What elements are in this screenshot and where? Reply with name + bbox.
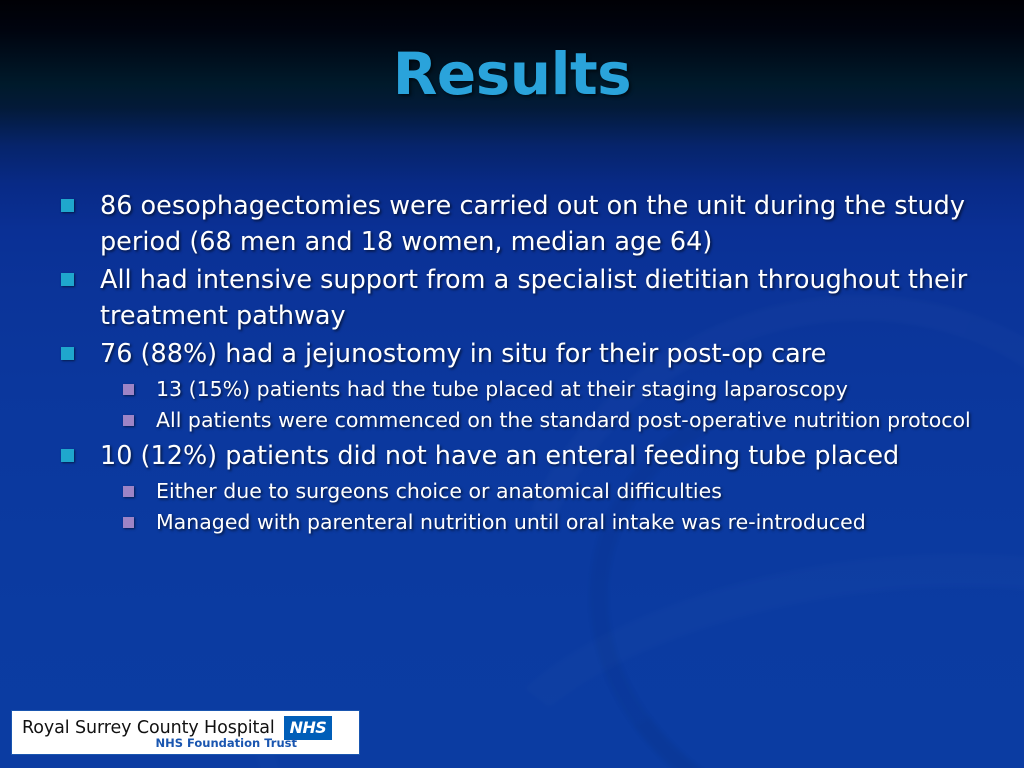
sub-bullet-square-icon	[123, 517, 134, 528]
bullet-text: 86 oesophagectomies were carried out on …	[100, 191, 965, 257]
trust-name-text: Royal Surrey County Hospital	[22, 718, 275, 738]
slide-body: 86 oesophagectomies were carried out on …	[56, 188, 986, 540]
nhs-trust-logo: Royal Surrey County Hospital NHS NHS Fou…	[11, 710, 360, 755]
bullet-list-level1: 86 oesophagectomies were carried out on …	[56, 188, 986, 538]
slide: Results 86 oesophagectomies were carried…	[0, 0, 1024, 768]
bullet-list-level2: Either due to surgeons choice or anatomi…	[114, 476, 986, 538]
bullet-text: 10 (12%) patients did not have an entera…	[100, 441, 899, 471]
bullet-item: 10 (12%) patients did not have an entera…	[56, 438, 986, 538]
sub-bullet-square-icon	[123, 486, 134, 497]
sub-bullet-text: Either due to surgeons choice or anatomi…	[156, 479, 722, 503]
bullet-square-icon	[61, 449, 74, 462]
sub-bullet-item: Managed with parenteral nutrition until …	[114, 507, 986, 538]
sub-bullet-text: 13 (15%) patients had the tube placed at…	[156, 377, 848, 401]
background-swirl-decoration-3	[432, 504, 1024, 768]
sub-bullet-text: Managed with parenteral nutrition until …	[156, 510, 866, 534]
bullet-square-icon	[61, 273, 74, 286]
nhs-wordmark-text: NHS	[290, 718, 327, 737]
bullet-text: All had intensive support from a special…	[100, 265, 967, 331]
sub-bullet-item: All patients were commenced on the stand…	[114, 405, 986, 436]
bullet-list-level2: 13 (15%) patients had the tube placed at…	[114, 374, 986, 436]
bullet-item: 86 oesophagectomies were carried out on …	[56, 188, 986, 260]
bullet-item: All had intensive support from a special…	[56, 262, 986, 334]
slide-title: Results	[0, 40, 1024, 108]
bullet-square-icon	[61, 199, 74, 212]
trust-subtitle-text: NHS Foundation Trust	[155, 736, 297, 750]
sub-bullet-square-icon	[123, 384, 134, 395]
bullet-text: 76 (88%) had a jejunostomy in situ for t…	[100, 339, 826, 369]
sub-bullet-item: 13 (15%) patients had the tube placed at…	[114, 374, 986, 405]
sub-bullet-square-icon	[123, 415, 134, 426]
sub-bullet-text: All patients were commenced on the stand…	[156, 408, 971, 432]
sub-bullet-item: Either due to surgeons choice or anatomi…	[114, 476, 986, 507]
bullet-square-icon	[61, 347, 74, 360]
bullet-item: 76 (88%) had a jejunostomy in situ for t…	[56, 336, 986, 436]
